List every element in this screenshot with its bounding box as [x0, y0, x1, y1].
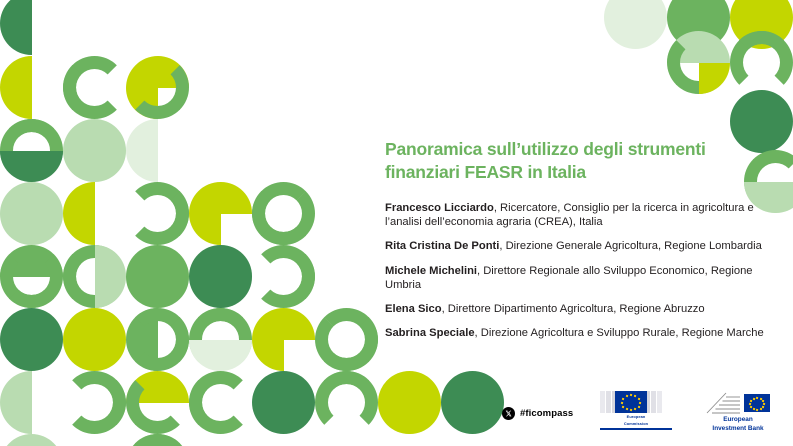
european-commission-logo: European Commission — [600, 391, 672, 430]
speaker-name: Michele Michelini — [385, 265, 477, 277]
eu-flag-icon — [744, 394, 770, 412]
speaker-role: , Direzione Generale Agricoltura, Region… — [499, 240, 761, 252]
pattern-cell — [667, 31, 730, 94]
pattern-cell — [667, 31, 730, 94]
pattern-cell — [63, 182, 126, 245]
list-item: Elena Sico, Direttore Dipartimento Agric… — [385, 302, 785, 316]
speaker-list: Francesco Licciardo, Ricercatore, Consig… — [385, 201, 785, 340]
pattern-cell — [126, 308, 189, 371]
pattern-cell — [189, 308, 252, 371]
speaker-role: , Direttore Dipartimento Agricoltura, Re… — [442, 303, 705, 315]
pattern-cell — [0, 308, 63, 371]
pattern-cell — [0, 119, 63, 182]
pattern-cell — [730, 0, 793, 49]
presentation-slide: Panoramica sull’utilizzo degli strumenti… — [0, 0, 793, 446]
ficompass-hashtag[interactable]: #ficompass — [502, 407, 573, 420]
pattern-cell — [252, 308, 315, 371]
speaker-name: Francesco Licciardo — [385, 202, 494, 214]
page-title: Panoramica sull’utilizzo degli strumenti… — [385, 138, 785, 184]
eib-diagonal-lines-icon — [706, 392, 740, 414]
pattern-cell — [0, 119, 63, 182]
pattern-cell — [126, 182, 189, 245]
pattern-cell — [63, 245, 126, 308]
pattern-cell — [189, 308, 252, 371]
pattern-cell — [63, 308, 126, 371]
eib-mark-row — [695, 391, 781, 415]
x-twitter-icon[interactable] — [502, 407, 515, 420]
pattern-cell — [315, 308, 378, 371]
list-item: Francesco Licciardo, Ricercatore, Consig… — [385, 201, 785, 229]
pattern-cell — [0, 245, 63, 308]
list-item: Sabrina Speciale, Direzione Agricoltura … — [385, 326, 785, 340]
speaker-role: , Direzione Agricoltura e Sviluppo Rural… — [475, 327, 764, 339]
pattern-cell — [63, 56, 126, 119]
eu-stars — [615, 391, 647, 413]
pattern-cell — [0, 182, 63, 245]
ec-pages-left-icon — [600, 391, 615, 413]
pattern-cell — [63, 245, 126, 308]
ec-label-line1: European — [600, 415, 672, 420]
ec-label-line2: Commission — [600, 422, 672, 427]
pattern-cell — [189, 182, 252, 245]
pattern-cell — [0, 56, 63, 119]
pattern-cell — [0, 0, 63, 55]
pattern-cell — [63, 56, 126, 119]
eib-label-line2: Investment Bank — [695, 425, 781, 432]
pattern-cell — [126, 119, 189, 182]
pattern-cell — [252, 245, 315, 308]
ec-flag-row — [600, 391, 672, 413]
ec-underline — [600, 428, 672, 430]
pattern-cell — [667, 0, 730, 49]
pattern-cell — [189, 245, 252, 308]
pattern-cell — [63, 119, 126, 182]
hashtag-label: #ficompass — [520, 408, 573, 419]
pattern-cell — [126, 56, 189, 119]
pattern-cell — [730, 31, 793, 94]
eib-label-line1: European — [695, 416, 781, 423]
pattern-cell — [252, 308, 315, 371]
ec-pages-right-icon — [647, 391, 662, 413]
list-item: Michele Michelini, Direttore Regionale a… — [385, 264, 785, 292]
pattern-cell — [0, 245, 63, 308]
eu-stars — [744, 394, 770, 412]
list-item: Rita Cristina De Ponti, Direzione Genera… — [385, 239, 785, 253]
speaker-name: Rita Cristina De Ponti — [385, 240, 499, 252]
pattern-cell — [126, 245, 189, 308]
speaker-name: Elena Sico — [385, 303, 442, 315]
eu-flag-icon — [615, 391, 647, 413]
slide-footer: #ficompass European Commiss — [0, 394, 793, 440]
pattern-cell — [252, 182, 315, 245]
european-investment-bank-logo: European Investment Bank — [695, 391, 781, 432]
pattern-cell — [189, 245, 252, 308]
pattern-cell — [667, 31, 730, 94]
pattern-cell — [189, 182, 252, 245]
slide-content: Panoramica sull’utilizzo degli strumenti… — [385, 138, 785, 350]
pattern-cell — [604, 0, 667, 49]
pattern-cell — [126, 56, 189, 119]
speaker-name: Sabrina Speciale — [385, 327, 475, 339]
pattern-cell — [126, 308, 189, 371]
